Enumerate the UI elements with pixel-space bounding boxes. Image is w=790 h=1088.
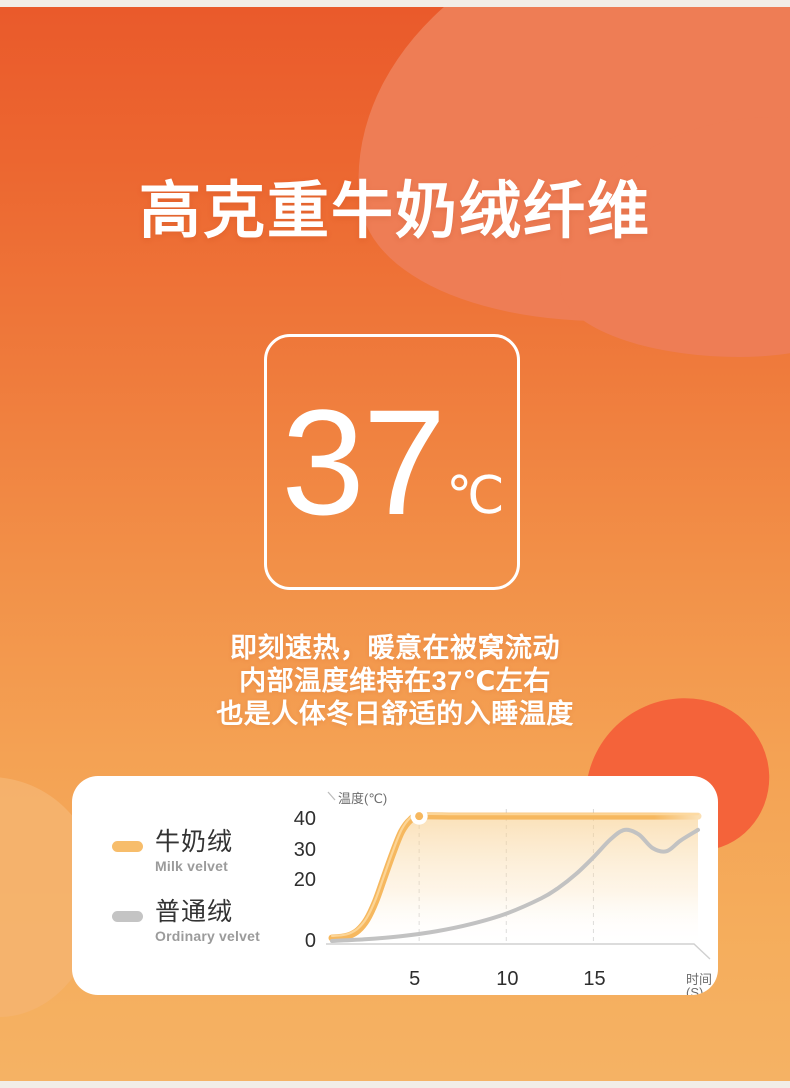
temperature-badge-content: 37 ℃ (267, 337, 517, 587)
chart-x-tick-15: 15 (583, 969, 605, 989)
legend-swatch-ordinary-velvet (112, 911, 143, 922)
chart-svg (272, 784, 718, 989)
temperature-badge: 37 ℃ (264, 334, 520, 590)
chart-x-axis-label: 时间(S) (686, 973, 718, 995)
chart-y-tick-0: 0 (280, 931, 316, 951)
legend-swatch-milk-velvet (112, 841, 143, 852)
top-strip (0, 0, 790, 7)
temperature-unit: ℃ (446, 470, 504, 522)
chart-x-tick-10: 10 (496, 969, 518, 989)
chart-x-tick-5: 5 (409, 969, 420, 989)
subcopy-line-3: 也是人体冬日舒适的入睡温度 (0, 698, 790, 731)
chart-y-tick-30: 30 (280, 840, 316, 860)
subcopy-block: 即刻速热，暖意在被窝流动 内部温度维持在37℃左右 也是人体冬日舒适的入睡温度 (0, 632, 790, 731)
chart-y-axis-label: 温度(℃) (338, 792, 387, 805)
legend-label-cn-ordinary-velvet: 普通绒 (155, 898, 260, 926)
chart-card: 牛奶绒 Milk velvet 普通绒 Ordinary velvet 0203… (72, 776, 718, 995)
product-detail-page: 高克重牛奶绒纤维 37 ℃ 即刻速热，暖意在被窝流动 内部温度维持在37℃左右 … (0, 0, 790, 1088)
subcopy-line-1: 即刻速热，暖意在被窝流动 (0, 632, 790, 665)
page-title: 高克重牛奶绒纤维 (0, 178, 790, 246)
legend-label-en-milk-velvet: Milk velvet (155, 856, 233, 876)
bottom-strip (0, 1081, 790, 1088)
chart-y-tick-20: 20 (280, 870, 316, 890)
line-chart: 0203040 51015 温度(℃) 时间(S) (272, 784, 718, 989)
subcopy-line-2: 内部温度维持在37℃左右 (0, 665, 790, 698)
legend-label-en-ordinary-velvet: Ordinary velvet (155, 926, 260, 946)
chart-y-tick-40: 40 (280, 809, 316, 829)
legend-label-cn-milk-velvet: 牛奶绒 (155, 828, 233, 856)
temperature-value: 37 (281, 387, 444, 537)
